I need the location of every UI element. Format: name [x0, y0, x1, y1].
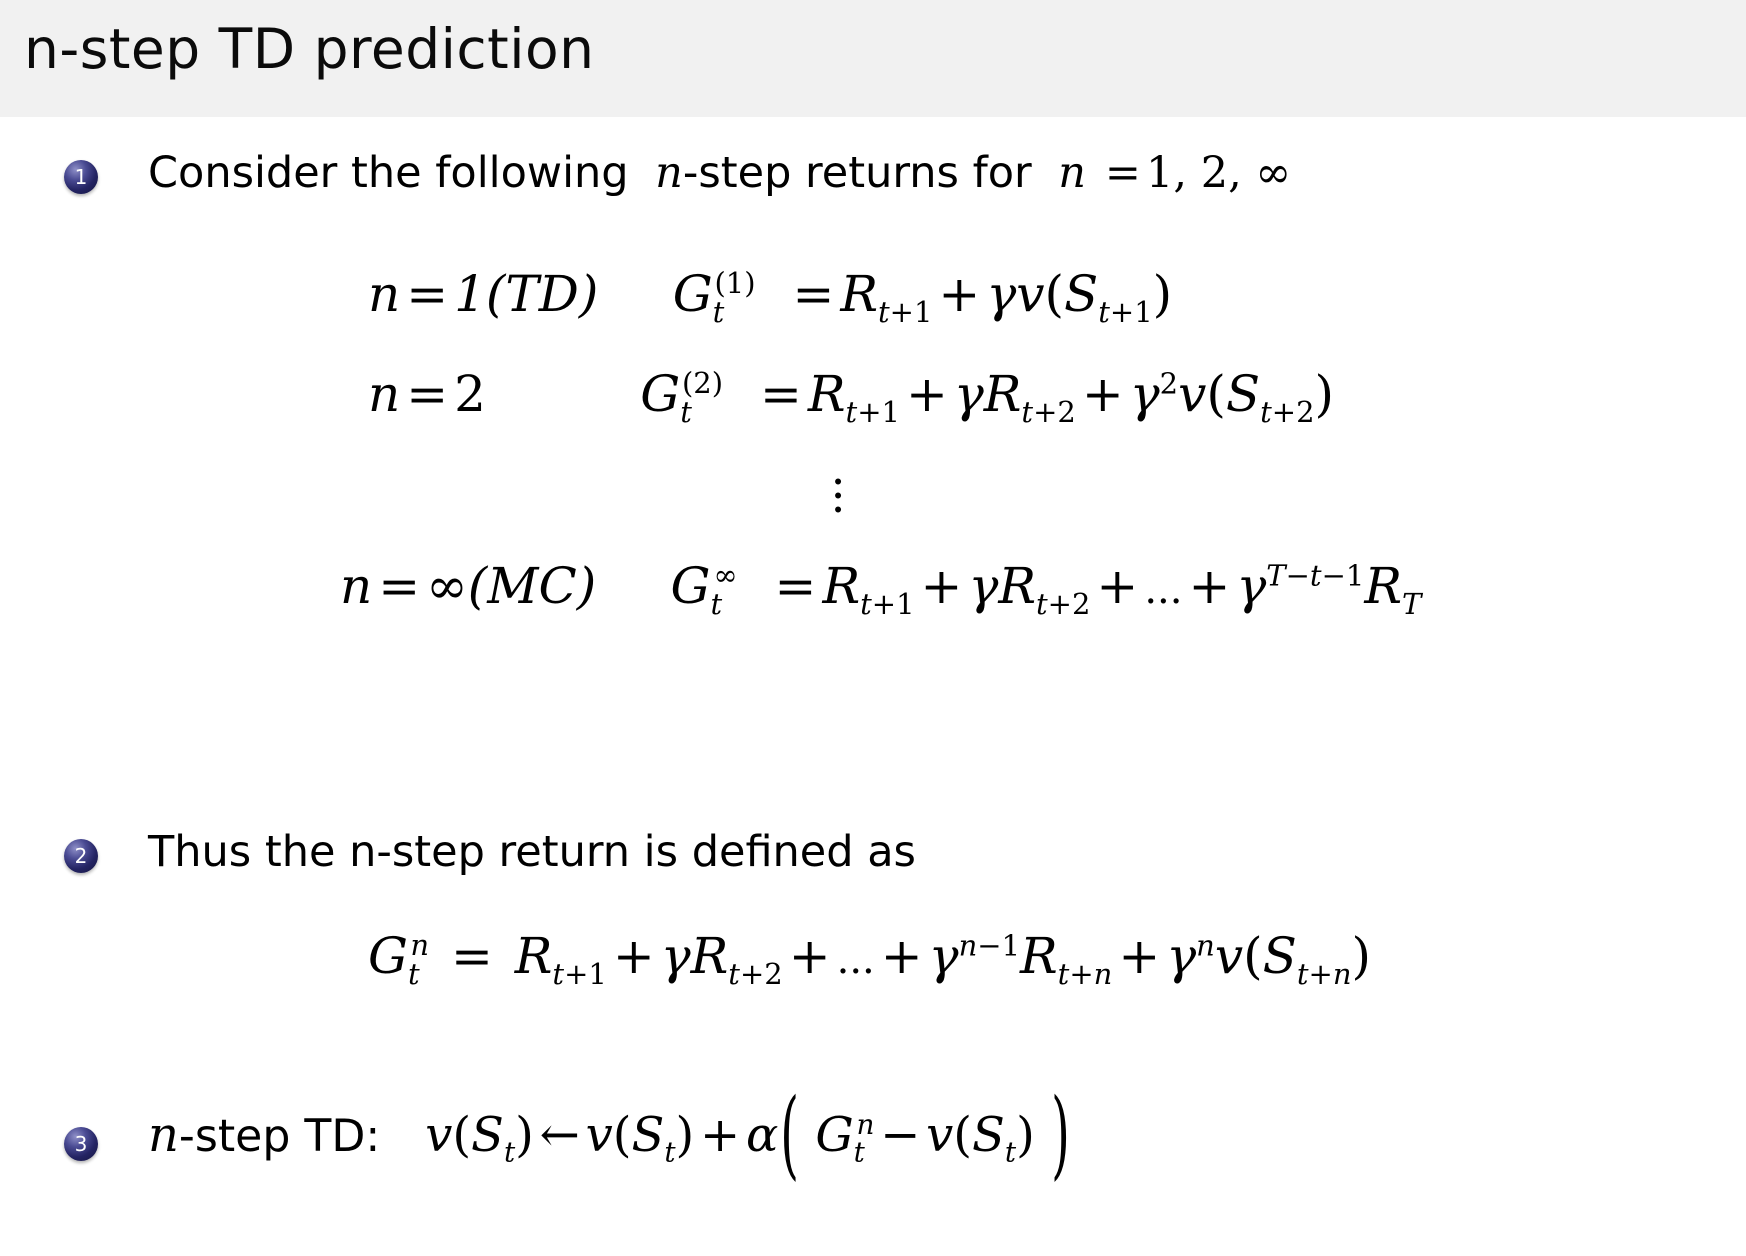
eqn-lhs-sup: n [410, 928, 429, 962]
eqinf-lhs-base: G [671, 557, 711, 615]
eq2-S-sub: t+2 [1260, 395, 1314, 429]
eq1-label-var: n [368, 265, 400, 323]
eqtd-alpha: α [746, 1107, 778, 1163]
eq2-gamma-2-exp: 2 [1160, 366, 1178, 400]
eqinf-plus-1: + [915, 557, 969, 615]
eqn-gamma-1: γ [661, 927, 691, 985]
eqn-paren-close: ) [1352, 927, 1372, 985]
eqn-R1-sub: t+1 [552, 957, 606, 991]
eqinf-R2-sub: t+2 [1036, 587, 1090, 621]
bullet-1-cond-values: 1, 2, ∞ [1146, 148, 1291, 198]
eq2-lhs-sup: (2) [682, 366, 723, 400]
eq2-R2-sub: t+2 [1021, 395, 1075, 429]
eqn-R2-sub: t+2 [728, 957, 782, 991]
eqn-plus-3: + [875, 927, 929, 985]
page-title: n-step TD prediction [24, 17, 595, 81]
eq2-paren-close: ) [1315, 365, 1335, 423]
eqn-lhs-base: G [368, 927, 408, 985]
eq2-R1: R [808, 365, 846, 423]
eqtd-paren-open-2: ( [613, 1107, 632, 1163]
eqinf-RT-sub: T [1402, 587, 1421, 621]
eqtd-S-1-sub: t [504, 1136, 515, 1169]
eqinf-R2: R [998, 557, 1036, 615]
eq2-label-var: n [368, 365, 400, 423]
eqn-gamma-2: γ [929, 927, 959, 985]
eq2-R1-sub: t+1 [846, 395, 900, 429]
eqn-gamma-3-exp: n [1196, 928, 1215, 962]
eq1-lhs-base: G [673, 265, 713, 323]
eqn-lhs-sub: t [408, 957, 420, 991]
eq1-paren-close: ) [1153, 265, 1173, 323]
eqn-relation: = [445, 927, 499, 985]
eqtd-arrow: ← [534, 1107, 586, 1163]
eq1-v: v [1016, 265, 1044, 323]
eqn-Rn-sub: t+n [1058, 957, 1113, 991]
equation-case-infinity: n=∞(MC) Gt∞ =Rt+1+γRt+2+...+γT−t−1RT [340, 557, 1421, 615]
eq1-S-sub: t+1 [1098, 295, 1152, 329]
eqn-S: S [1263, 927, 1297, 985]
bullet-marker-2: 2 [64, 839, 98, 873]
eqtd-v-1: v [425, 1107, 452, 1163]
eqtd-v-2: v [586, 1107, 613, 1163]
slide-header: n-step TD prediction [0, 0, 1746, 117]
eqinf-plus-3: + [1182, 557, 1236, 615]
eqinf-label-var: n [340, 557, 372, 615]
eq2-gamma-1: γ [954, 365, 984, 423]
eqinf-plus-2: + [1090, 557, 1144, 615]
eqinf-gamma-1: γ [968, 557, 998, 615]
vertical-ellipsis: . . . [820, 462, 856, 503]
eqtd-S-1: S [471, 1107, 504, 1163]
eqtd-prefix-text: -step TD: [179, 1111, 380, 1162]
eq1-S: S [1064, 265, 1098, 323]
eq1-rhs-R-sub: t+1 [878, 295, 932, 329]
eqtd-paren-close-3: ) [1016, 1107, 1035, 1163]
bullet-1-cond-var: n [1058, 148, 1086, 198]
eqn-plus-1: + [607, 927, 661, 985]
equation-case-2: n=2 Gt(2) =Rt+1+γRt+2+γ2v(St+2) [368, 365, 1334, 423]
eq2-v: v [1178, 365, 1206, 423]
eqn-R1: R [515, 927, 553, 985]
eqtd-S-3: S [972, 1107, 1005, 1163]
slide-body: 1 Consider the following n-step returns … [0, 117, 1746, 1256]
eqn-Rn: R [1020, 927, 1058, 985]
vdot-3: . [820, 490, 856, 504]
equation-n-step-return: Gtn = Rt+1+γRt+2+...+γn−1Rt+n+γnv(St+n) [368, 927, 1371, 985]
eqinf-label-value: ∞(MC) [426, 557, 596, 615]
bullet-marker-1: 1 [64, 160, 98, 194]
eqn-paren-open: ( [1243, 927, 1263, 985]
eqtd-bigparen-close: ) [1049, 1079, 1072, 1191]
eqtd-S-2: S [631, 1107, 664, 1163]
eq2-lhs-sub: t [680, 395, 692, 429]
eqtd-minus: − [874, 1107, 926, 1163]
eqn-S-sub: t+n [1297, 957, 1352, 991]
eqn-gamma-3: γ [1166, 927, 1196, 985]
eqtd-G-sup: n [857, 1108, 875, 1141]
eq1-paren-open: ( [1044, 265, 1064, 323]
eq2-gamma-2: γ [1130, 365, 1160, 423]
eqtd-G: G [815, 1107, 853, 1163]
eqinf-lhs-sub: t [711, 587, 723, 621]
bullet-1-equals: = [1100, 148, 1146, 198]
eqinf-gamma-2-exp: T−t−1 [1266, 558, 1364, 592]
bullet-2-text: Thus the n-step return is defined as [148, 831, 916, 874]
eqtd-plus: + [694, 1107, 746, 1163]
bullet-marker-3: 3 [64, 1127, 98, 1161]
eq1-label-value: 1(TD) [454, 265, 598, 323]
eq2-relation: = [754, 365, 808, 423]
eqinf-lhs-sup: ∞ [713, 558, 737, 592]
eq1-rhs-R: R [840, 265, 878, 323]
eq1-plus: + [932, 265, 986, 323]
bullet-1-text: Consider the following n-step returns fo… [148, 152, 1291, 195]
eqinf-gamma-2: γ [1236, 557, 1266, 615]
eqinf-R1-sub: t+1 [860, 587, 914, 621]
eqinf-RT: R [1364, 557, 1402, 615]
eq2-label-equals: = [400, 365, 454, 423]
eqtd-v-3: v [926, 1107, 953, 1163]
eq1-relation: = [786, 265, 840, 323]
eq1-label-equals: = [400, 265, 454, 323]
eqinf-ellipsis: ... [1144, 567, 1182, 613]
equation-n-step-td: n-step TD: v(St)←v(St)+α(Gtn−v(St)) [148, 1107, 1072, 1163]
eq2-plus-2: + [1076, 365, 1130, 423]
bullet-1-italic-n: n [655, 148, 683, 198]
eqinf-R1: R [822, 557, 860, 615]
eqinf-label-equals: = [372, 557, 426, 615]
eqtd-paren-open-1: ( [452, 1107, 471, 1163]
eqn-v: v [1215, 927, 1243, 985]
eqtd-bigparen-open: ( [778, 1079, 801, 1191]
eqn-plus-4: + [1112, 927, 1166, 985]
eqinf-relation: = [769, 557, 823, 615]
equation-case-1: n=1(TD) Gt(1) =Rt+1+γv(St+1) [368, 265, 1172, 323]
eq2-S: S [1226, 365, 1260, 423]
eq2-label-value: 2 [454, 365, 486, 423]
eqtd-paren-close-1: ) [515, 1107, 534, 1163]
eq2-paren-open: ( [1206, 365, 1226, 423]
eqtd-prefix-italic: n [148, 1107, 179, 1163]
eq1-lhs-sub: t [713, 295, 725, 329]
bullet-1-lead: Consider the following [148, 148, 629, 198]
eqtd-paren-open-3: ( [953, 1107, 972, 1163]
eqtd-S-3-sub: t [1005, 1136, 1016, 1169]
eq1-lhs-sup: (1) [714, 266, 755, 300]
eqtd-S-2-sub: t [664, 1136, 675, 1169]
eqn-R2: R [691, 927, 729, 985]
bullet-1-mid: -step returns for [683, 148, 1032, 198]
eqn-ellipsis: ... [837, 937, 875, 983]
eq2-R2: R [984, 365, 1022, 423]
eq2-plus-1: + [900, 365, 954, 423]
eqn-gamma-2-exp: n−1 [959, 928, 1020, 962]
eqtd-paren-close-2: ) [676, 1107, 695, 1163]
eq1-gamma: γ [986, 265, 1016, 323]
eqn-plus-2: + [783, 927, 837, 985]
eq2-lhs-base: G [640, 365, 680, 423]
